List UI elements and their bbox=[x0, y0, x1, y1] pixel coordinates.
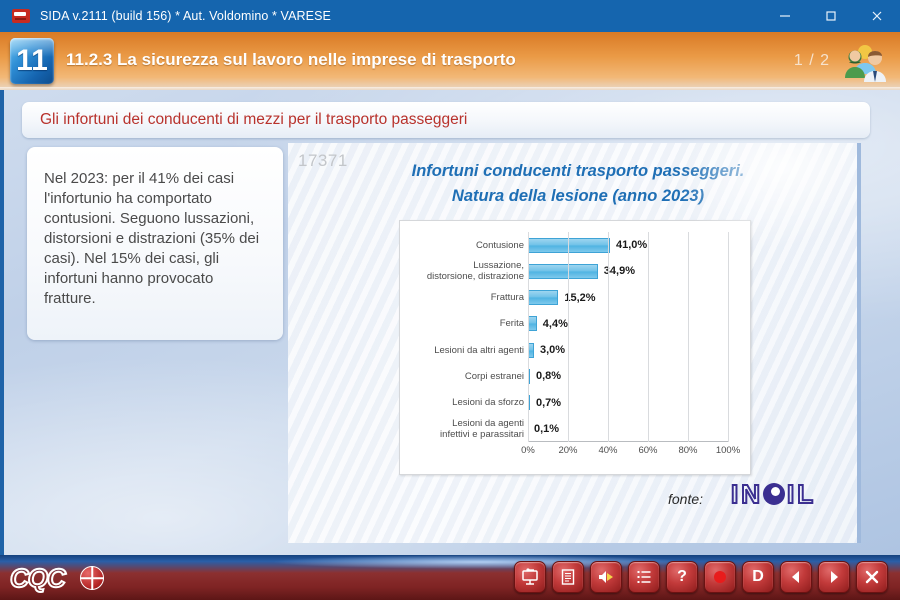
list-index-button[interactable] bbox=[628, 561, 660, 593]
chart-category-label: Ferita bbox=[400, 313, 524, 334]
chart-value-label: 0,1% bbox=[534, 423, 559, 435]
chart-x-tick-label: 0% bbox=[521, 445, 535, 456]
page-indicator: 1 / 2 bbox=[794, 52, 830, 70]
chapter-badge: 11 bbox=[10, 38, 54, 84]
chart-bar-row: Lesioni da altri agenti3,0% bbox=[528, 340, 565, 361]
slide-subtitle: Gli infortuni dei conducenti di mezzi pe… bbox=[40, 111, 467, 129]
truck-icon bbox=[12, 9, 30, 23]
chart-figure: Contusione41,0%Lussazione,distorsione, d… bbox=[399, 220, 751, 475]
chart-x-tick-label: 80% bbox=[678, 445, 697, 456]
chart-category-label: Lussazione,distorsione, distrazione bbox=[400, 261, 524, 282]
chart-category-label: Lesioni da agentiinfettivi e parassitari bbox=[400, 418, 524, 439]
exit-button[interactable] bbox=[856, 561, 888, 593]
lesson-body-text: Nel 2023: per il 41% dei casi l'infortun… bbox=[44, 169, 267, 309]
chart-title: Infortuni conducenti trasporto passegger… bbox=[328, 159, 828, 209]
chart-bar-row: Lesioni da agentiinfettivi e parassitari… bbox=[528, 418, 559, 439]
chart-bar bbox=[528, 264, 598, 279]
chart-value-label: 0,7% bbox=[536, 397, 561, 409]
chart-baseline bbox=[528, 441, 728, 442]
maximize-button[interactable] bbox=[808, 0, 854, 32]
chart-plot-area: Contusione41,0%Lussazione,distorsione, d… bbox=[528, 232, 728, 442]
d-button[interactable]: D bbox=[742, 561, 774, 593]
slide-area: Gli infortuni dei conducenti di mezzi pe… bbox=[0, 90, 900, 555]
inail-letter-n: N bbox=[741, 481, 761, 507]
presentation-screen-button[interactable] bbox=[514, 561, 546, 593]
slide-left-edge bbox=[0, 90, 4, 555]
chart-x-axis-ticks: 0%20%40%60%80%100% bbox=[528, 445, 728, 459]
application-window: SIDA v.2111 (build 156) * Aut. Voldomino… bbox=[0, 0, 900, 600]
chart-gridline bbox=[728, 232, 729, 442]
chart-category-label: Contusione bbox=[400, 235, 524, 256]
lesson-header: 11 11.2.3 La sicurezza sul lavoro nelle … bbox=[0, 32, 900, 90]
window-title: SIDA v.2111 (build 156) * Aut. Voldomino… bbox=[40, 9, 331, 23]
page-title: 11.2.3 La sicurezza sul lavoro nelle imp… bbox=[66, 50, 516, 70]
chart-bar-row: Contusione41,0% bbox=[528, 235, 647, 256]
close-button[interactable] bbox=[854, 0, 900, 32]
people-group-icon bbox=[836, 40, 892, 86]
chart-category-label: Lesioni da sforzo bbox=[400, 392, 524, 413]
chart-category-label: Lesioni da altri agenti bbox=[400, 340, 524, 361]
chart-bar-row: Ferita4,4% bbox=[528, 313, 568, 334]
cqc-brand-logo: CQC bbox=[10, 563, 65, 594]
slide-subtitle-bar: Gli infortuni dei conducenti di mezzi pe… bbox=[22, 102, 870, 138]
next-button[interactable] bbox=[818, 561, 850, 593]
d-label: D bbox=[752, 569, 764, 585]
window-titlebar: SIDA v.2111 (build 156) * Aut. Voldomino… bbox=[0, 0, 900, 32]
chart-value-label: 15,2% bbox=[564, 292, 595, 304]
chart-gridline bbox=[568, 232, 569, 442]
chart-bar-row: Lussazione,distorsione, distrazione34,9% bbox=[528, 261, 635, 282]
chart-value-label: 4,4% bbox=[543, 318, 568, 330]
inail-letter-l: L bbox=[797, 481, 814, 507]
chart-title-line2: Natura della lesione (anno 2023) bbox=[328, 184, 828, 209]
audio-play-button[interactable] bbox=[590, 561, 622, 593]
chart-panel: 17371 Infortuni conducenti trasporto pas… bbox=[288, 143, 861, 543]
chart-title-line1: Infortuni conducenti trasporto passegger… bbox=[328, 159, 828, 184]
previous-button[interactable] bbox=[780, 561, 812, 593]
chart-gridline bbox=[648, 232, 649, 442]
source-label: fonte: bbox=[668, 491, 703, 507]
chart-category-label: Frattura bbox=[400, 287, 524, 308]
chart-bar-row: Frattura15,2% bbox=[528, 287, 596, 308]
document-button[interactable] bbox=[552, 561, 584, 593]
toolbar-buttons: ? D bbox=[514, 561, 888, 593]
chart-bar-row: Lesioni da sforzo0,7% bbox=[528, 392, 561, 413]
chart-x-tick-label: 40% bbox=[598, 445, 617, 456]
chart-category-label: Corpi estranei bbox=[400, 366, 524, 387]
help-label: ? bbox=[677, 569, 687, 585]
chart-bar-row: Corpi estranei0,8% bbox=[528, 366, 561, 387]
inail-logo: I N I L bbox=[731, 481, 814, 507]
inail-letter-a bbox=[763, 483, 785, 505]
help-button[interactable]: ? bbox=[666, 561, 698, 593]
chart-bar bbox=[528, 290, 558, 305]
chart-gridline bbox=[528, 232, 529, 442]
lesson-text-card: Nel 2023: per il 41% dei casi l'infortun… bbox=[27, 147, 283, 340]
chart-bar bbox=[528, 238, 610, 253]
globe-icon[interactable] bbox=[80, 566, 104, 590]
chart-bar bbox=[528, 316, 537, 331]
chart-value-label: 41,0% bbox=[616, 239, 647, 251]
inail-letter-i2: I bbox=[787, 481, 795, 507]
bottom-toolbar: CQC ? D bbox=[0, 555, 900, 600]
chart-x-tick-label: 60% bbox=[638, 445, 657, 456]
chart-x-tick-label: 100% bbox=[716, 445, 740, 456]
inail-letter-i1: I bbox=[731, 481, 739, 507]
chart-gridline bbox=[608, 232, 609, 442]
record-button[interactable] bbox=[704, 561, 736, 593]
chart-value-label: 3,0% bbox=[540, 344, 565, 356]
chart-value-label: 0,8% bbox=[536, 370, 561, 382]
minimize-button[interactable] bbox=[762, 0, 808, 32]
chart-x-tick-label: 20% bbox=[558, 445, 577, 456]
chart-gridline bbox=[688, 232, 689, 442]
chapter-number: 11 bbox=[16, 44, 48, 78]
